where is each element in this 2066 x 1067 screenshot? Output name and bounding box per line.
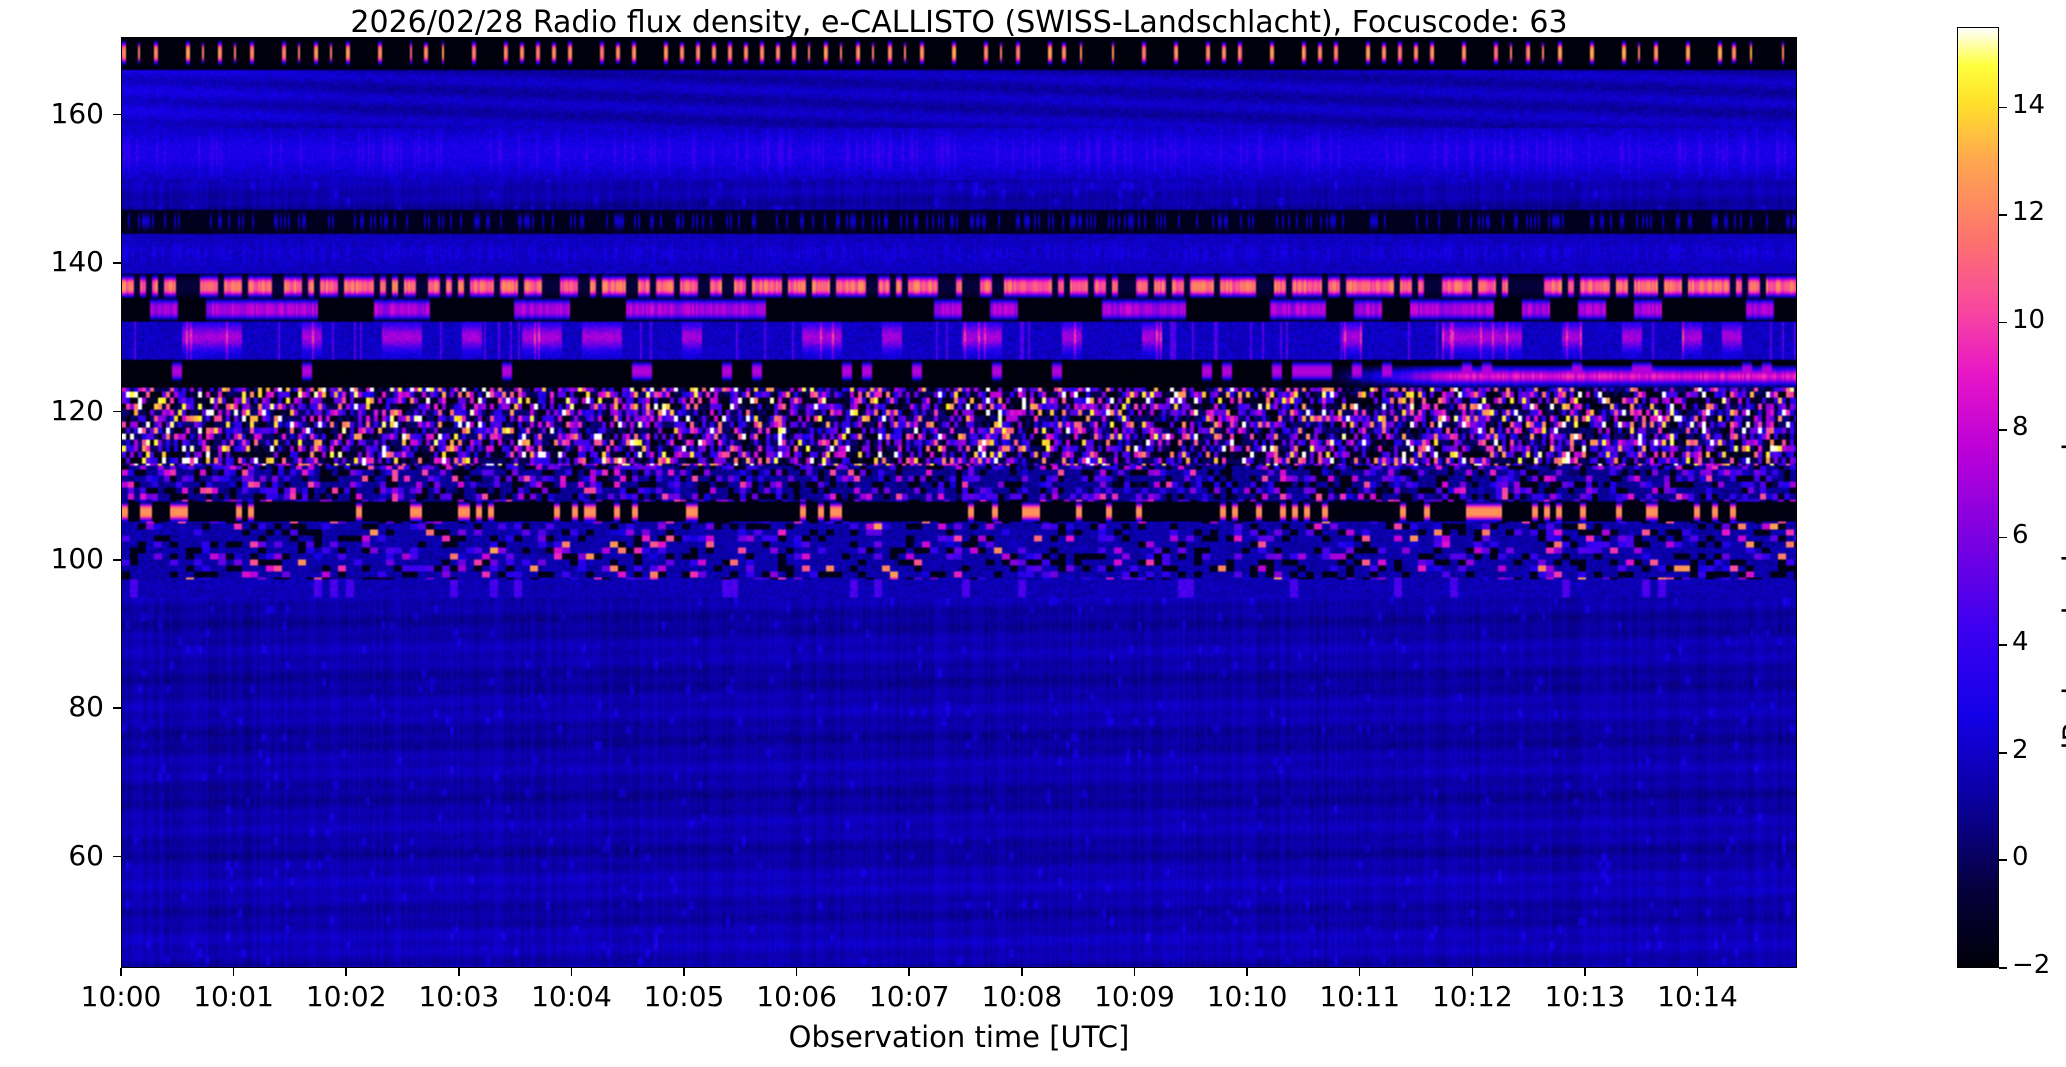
figure-canvas: 2026/02/28 Radio flux density, e-CALLIST… xyxy=(0,0,2066,1067)
colorbar-tick-label: −2 xyxy=(2012,950,2050,980)
x-axis-tick-label: 10:04 xyxy=(531,980,612,1013)
x-axis-tick-label: 10:13 xyxy=(1545,980,1626,1013)
x-axis-tick-mark xyxy=(458,968,460,976)
y-axis-tick-label: 60 xyxy=(68,839,104,872)
colorbar-tick-label: 8 xyxy=(2012,412,2029,442)
spectrogram-image xyxy=(122,38,1797,968)
page-title: 2026/02/28 Radio flux density, e-CALLIST… xyxy=(121,6,1797,40)
colorbar-tick-mark xyxy=(1999,322,2007,324)
colorbar-tick-mark xyxy=(1999,967,2007,969)
y-axis-tick-mark xyxy=(113,856,121,858)
x-axis-tick-mark xyxy=(571,968,573,976)
x-axis-tick-label: 10:00 xyxy=(81,980,162,1013)
x-axis-tick-mark xyxy=(683,968,685,976)
x-axis-tick-label: 10:10 xyxy=(1207,980,1288,1013)
colorbar-tick-label: 10 xyxy=(2012,305,2045,335)
x-axis-tick-mark xyxy=(120,968,122,976)
x-axis-tick-mark xyxy=(1697,968,1699,976)
colorbar-tick-label: 6 xyxy=(2012,520,2029,550)
colorbar-tick-mark xyxy=(1999,214,2007,216)
x-axis-label: Observation time [UTC] xyxy=(121,1020,1797,1054)
colorbar-tick-mark xyxy=(1999,644,2007,646)
y-axis-tick-label: 100 xyxy=(51,542,104,575)
colorbar-tick-label: 12 xyxy=(2012,197,2045,227)
y-axis-tick-mark xyxy=(113,262,121,264)
colorbar-tick-mark xyxy=(1999,107,2007,109)
x-axis-tick-mark xyxy=(908,968,910,976)
spectrogram-plot-area[interactable] xyxy=(121,37,1797,968)
colorbar-tick-label: 0 xyxy=(2012,842,2029,872)
x-axis-tick-label: 10:11 xyxy=(1319,980,1400,1013)
x-axis-tick-label: 10:01 xyxy=(193,980,274,1013)
x-axis-tick-mark xyxy=(796,968,798,976)
y-axis-tick-mark xyxy=(113,411,121,413)
x-axis-tick-mark xyxy=(345,968,347,976)
y-axis-tick-mark xyxy=(113,559,121,561)
x-axis-tick-label: 10:07 xyxy=(869,980,950,1013)
y-axis-tick-label: 160 xyxy=(51,97,104,130)
x-axis-tick-mark xyxy=(1359,968,1361,976)
y-axis-tick-mark xyxy=(113,114,121,116)
y-axis-tick-label: 120 xyxy=(51,394,104,427)
colorbar[interactable] xyxy=(1957,27,1999,968)
colorbar-tick-label: 2 xyxy=(2012,735,2029,765)
colorbar-tick-label: 4 xyxy=(2012,627,2029,657)
x-axis-tick-mark xyxy=(1246,968,1248,976)
x-axis-tick-mark xyxy=(1134,968,1136,976)
colorbar-tick-mark xyxy=(1999,752,2007,754)
x-axis-tick-label: 10:05 xyxy=(644,980,725,1013)
colorbar-tick-label: 14 xyxy=(2012,90,2045,120)
y-axis-tick-label: 80 xyxy=(68,690,104,723)
x-axis-tick-label: 10:02 xyxy=(306,980,387,1013)
colorbar-tick-mark xyxy=(1999,429,2007,431)
x-axis-tick-mark xyxy=(1472,968,1474,976)
x-axis-tick-mark xyxy=(1584,968,1586,976)
x-axis-tick-label: 10:09 xyxy=(1094,980,1175,1013)
x-axis-tick-label: 10:14 xyxy=(1657,980,1738,1013)
x-axis-tick-mark xyxy=(233,968,235,976)
colorbar-tick-mark xyxy=(1999,859,2007,861)
colorbar-label: dB above background xyxy=(2057,443,2066,760)
colorbar-gradient xyxy=(1958,28,1998,967)
y-axis-tick-label: 140 xyxy=(51,245,104,278)
x-axis-tick-label: 10:08 xyxy=(982,980,1063,1013)
x-axis-tick-mark xyxy=(1021,968,1023,976)
x-axis-tick-label: 10:06 xyxy=(756,980,837,1013)
y-axis-tick-mark xyxy=(113,707,121,709)
x-axis-tick-label: 10:12 xyxy=(1432,980,1513,1013)
colorbar-tick-mark xyxy=(1999,537,2007,539)
x-axis-tick-label: 10:03 xyxy=(418,980,499,1013)
